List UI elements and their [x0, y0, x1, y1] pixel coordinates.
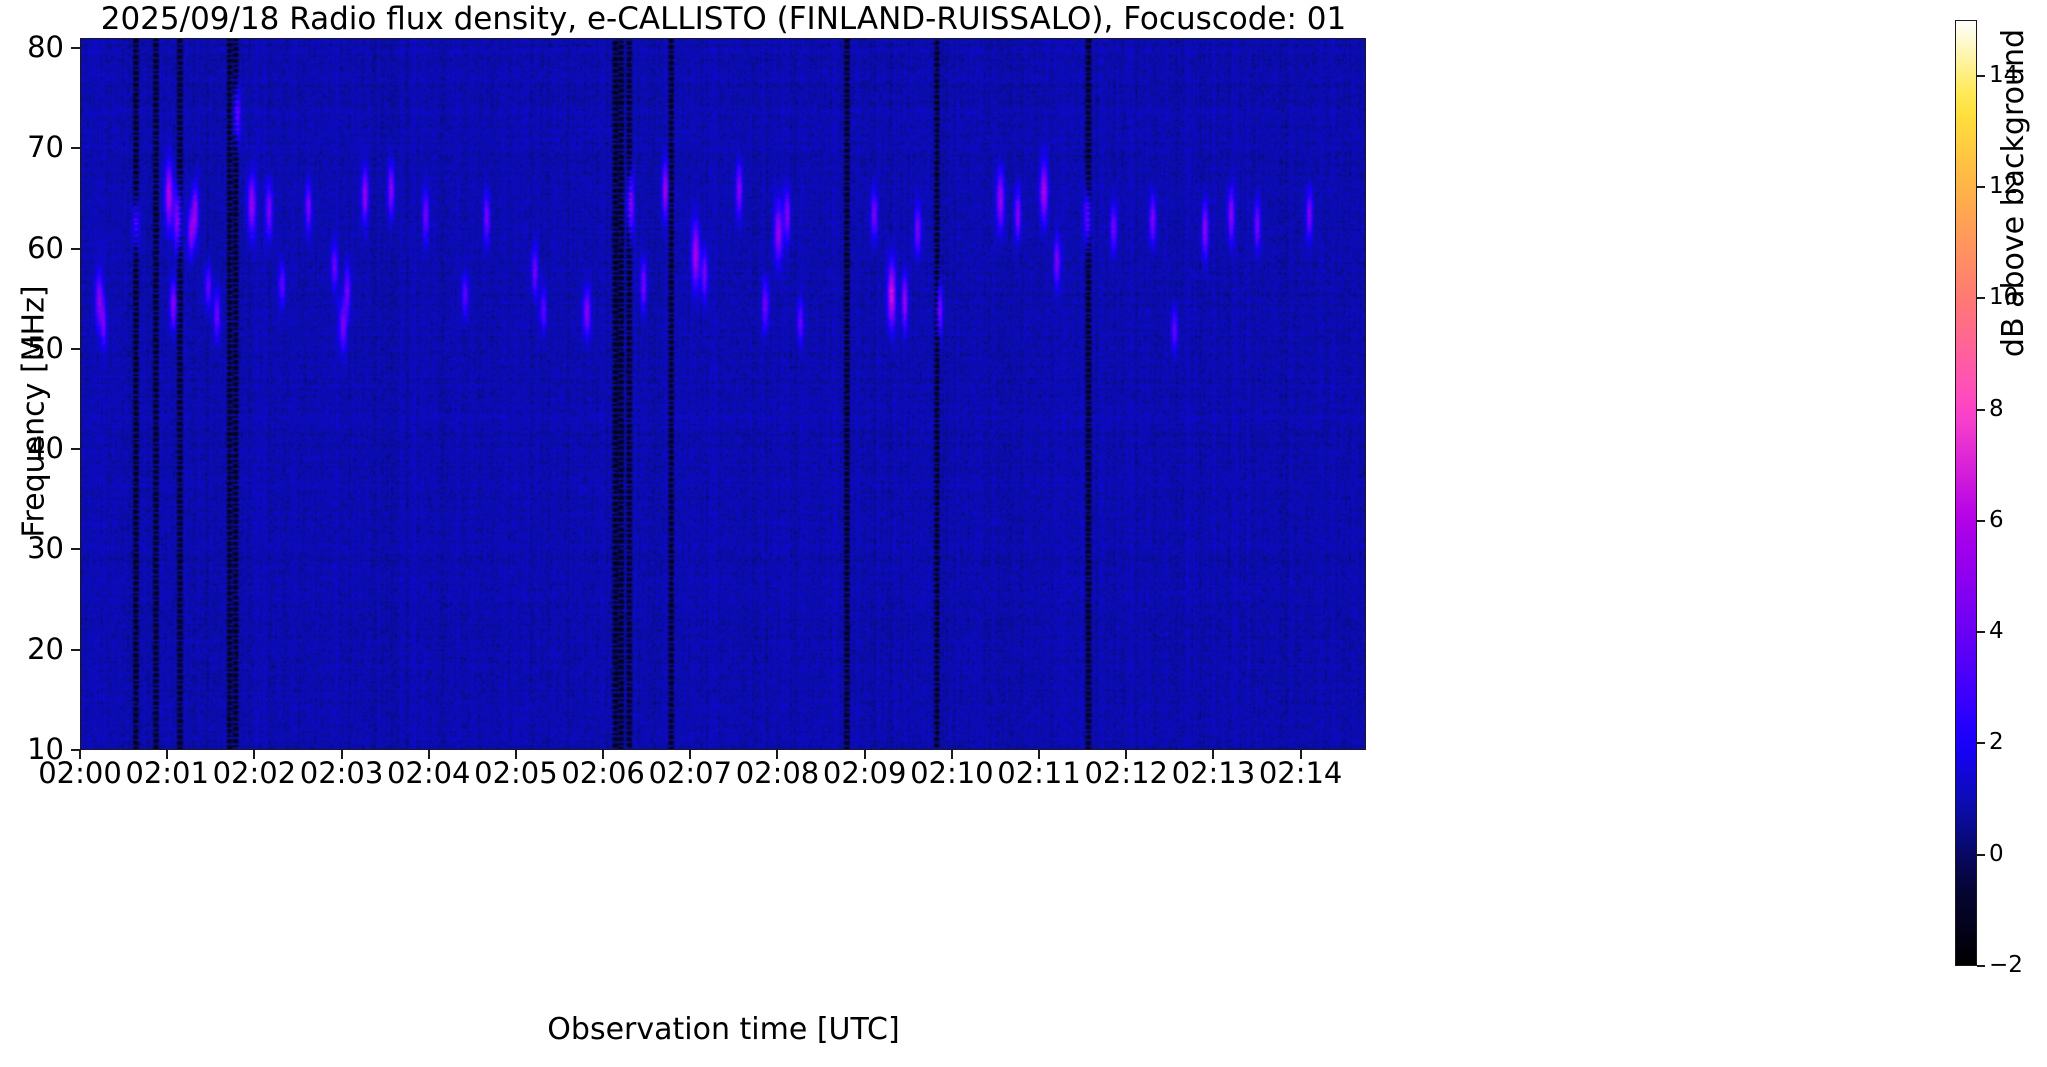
- y-tick-mark: [71, 248, 80, 250]
- colorbar-gradient: [1955, 20, 1977, 966]
- x-axis-label: Observation time [UTC]: [80, 1012, 1367, 1047]
- y-axis-label: Frequency [MHz]: [17, 152, 52, 672]
- colorbar-label: dB above background: [1996, 0, 2031, 493]
- colorbar-tick-mark: [1977, 520, 1985, 522]
- colorbar-tick-mark: [1977, 186, 1985, 188]
- colorbar-tick-mark: [1977, 631, 1985, 633]
- y-tick-mark: [71, 348, 80, 350]
- spectrogram-image: [81, 39, 1365, 749]
- colorbar-tick-label: 0: [1989, 843, 2004, 866]
- x-tick-label: 02:14: [1231, 757, 1371, 789]
- y-tick-mark: [71, 448, 80, 450]
- colorbar-tick-mark: [1977, 742, 1985, 744]
- colorbar-tick-label: 4: [1989, 620, 2004, 643]
- y-tick-label: 80: [0, 33, 64, 62]
- colorbar-tick-mark: [1977, 965, 1985, 967]
- y-tick-mark: [71, 147, 80, 149]
- y-tick-mark: [71, 47, 80, 49]
- colorbar-tick-mark: [1977, 409, 1985, 411]
- y-tick-mark: [71, 649, 80, 651]
- spectrogram-plot-area: [80, 38, 1366, 750]
- colorbar-tick-label: 2: [1989, 731, 2004, 754]
- colorbar-tick-mark: [1977, 854, 1985, 856]
- colorbar-tick-label: 6: [1989, 509, 2004, 532]
- y-tick-mark: [71, 548, 80, 550]
- colorbar-tick-label: −2: [1989, 954, 2023, 977]
- colorbar-tick-mark: [1977, 297, 1985, 299]
- chart-title: 2025/09/18 Radio flux density, e-CALLIST…: [80, 2, 1367, 36]
- colorbar: 14121086420−2: [1955, 20, 1977, 966]
- colorbar-tick-mark: [1977, 75, 1985, 77]
- figure-canvas: 2025/09/18 Radio flux density, e-CALLIST…: [0, 0, 2047, 1067]
